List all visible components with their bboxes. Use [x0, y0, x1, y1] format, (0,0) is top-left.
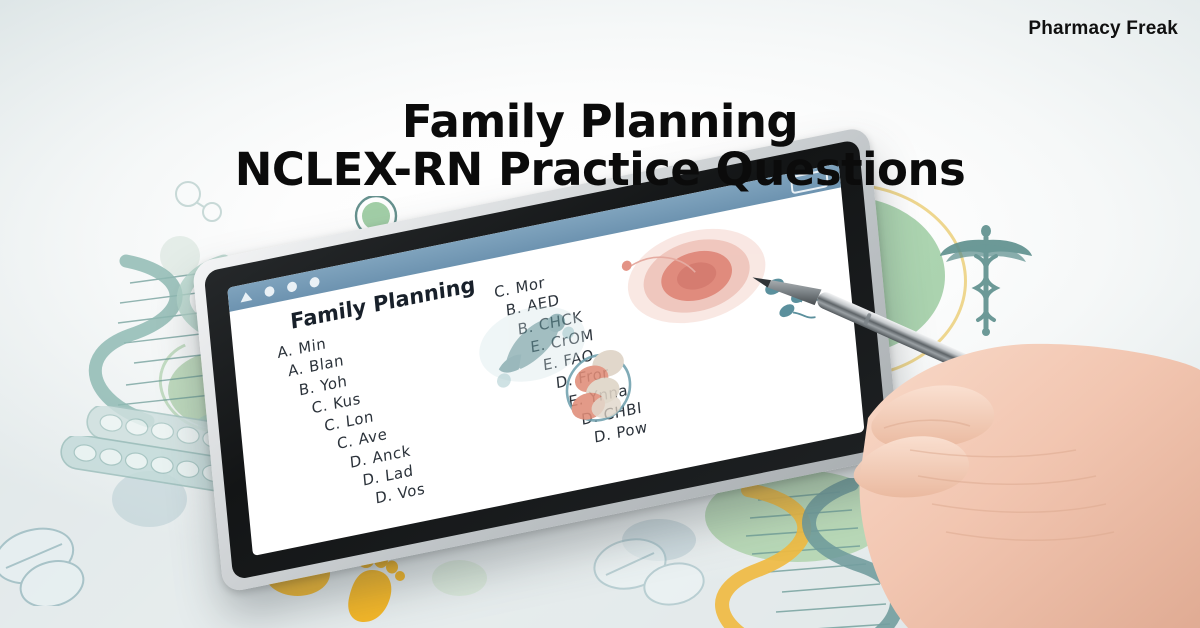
pill-tablets-icon: [0, 526, 114, 606]
dot-icon[interactable]: [264, 285, 275, 297]
watermark-label: Pharmacy Freak: [1028, 18, 1178, 40]
hand-holding-stylus: [760, 300, 1200, 628]
green-circle-blob: [432, 560, 487, 596]
dot-icon[interactable]: [309, 276, 320, 288]
triangle-icon[interactable]: [240, 291, 253, 302]
poster-canvas: Pharmacy Freak Family Planning NCLEX-RN …: [0, 0, 1200, 628]
answer-column-left: A. Min A. Blan B. Yoh C. Kus C. Lon C. A…: [276, 316, 426, 525]
pill-tablets-icon: [588, 530, 708, 610]
dot-icon[interactable]: [287, 281, 298, 293]
answer-column-right: C. Mor B. AED B. CHCK E. CrOM E. FAO D. …: [493, 255, 650, 481]
molecule-icon: [168, 178, 228, 230]
